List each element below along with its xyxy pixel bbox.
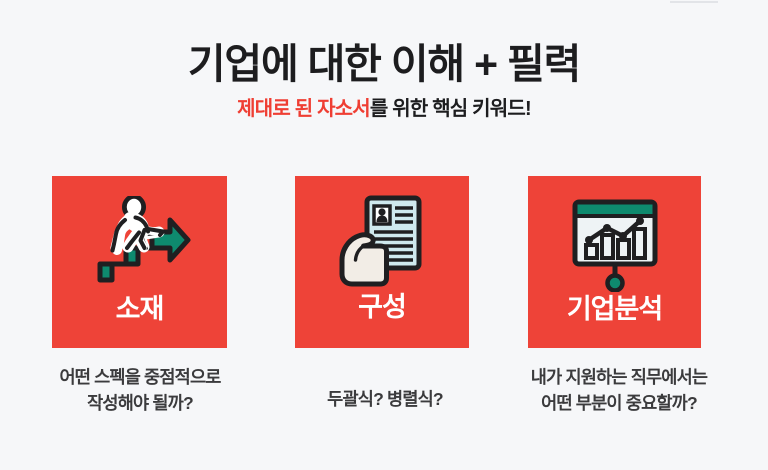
caption-guseong-line1: 두괄식? 병렬식? — [285, 386, 485, 412]
card-soje[interactable]: 소재 — [52, 176, 227, 348]
card-label-soje: 소재 — [116, 296, 164, 323]
presentation-bar-chart-icon — [567, 196, 663, 292]
card-guseong[interactable]: 구성 — [295, 176, 469, 348]
subtitle-rest: 를 위한 핵심 키워드! — [370, 98, 531, 120]
card-label-guseong: 구성 — [358, 294, 406, 321]
top-divider-line — [670, 1, 718, 3]
person-climbing-stairs-arrow-icon — [86, 196, 194, 292]
page-title: 기업에 대한 이해 + 필력 — [0, 42, 768, 88]
subtitle-highlight: 제대로 된 자소서 — [237, 98, 370, 120]
slide-header: 기업에 대한 이해 + 필력 제대로 된 자소서를 위한 핵심 키워드! — [0, 42, 768, 121]
card-gieopbunseok[interactable]: 기업분석 — [528, 176, 701, 348]
caption-guseong: 두괄식? 병렬식? — [285, 386, 485, 412]
caption-soje: 어떤 스펙을 중점적으로 작성해야 될까? — [10, 364, 270, 417]
caption-gieopbunseok: 내가 지원하는 직무에서는 어떤 부분이 중요할까? — [485, 364, 753, 417]
caption-soje-line1: 어떤 스펙을 중점적으로 — [10, 364, 270, 390]
infographic-slide: 기업에 대한 이해 + 필력 제대로 된 자소서를 위한 핵심 키워드! — [0, 0, 768, 470]
hand-holding-resume-icon — [336, 194, 428, 290]
caption-soje-line2: 작성해야 될까? — [10, 390, 270, 416]
card-group: 소재 — [0, 176, 768, 348]
card-label-gieopbunseok: 기업분석 — [567, 296, 662, 323]
caption-gieopbunseok-line2: 어떤 부분이 중요할까? — [485, 390, 753, 416]
page-subtitle: 제대로 된 자소서를 위한 핵심 키워드! — [0, 97, 768, 121]
caption-gieopbunseok-line1: 내가 지원하는 직무에서는 — [485, 364, 753, 390]
caption-group: 어떤 스펙을 중점적으로 작성해야 될까? 두괄식? 병렬식? 내가 지원하는 … — [0, 364, 768, 444]
